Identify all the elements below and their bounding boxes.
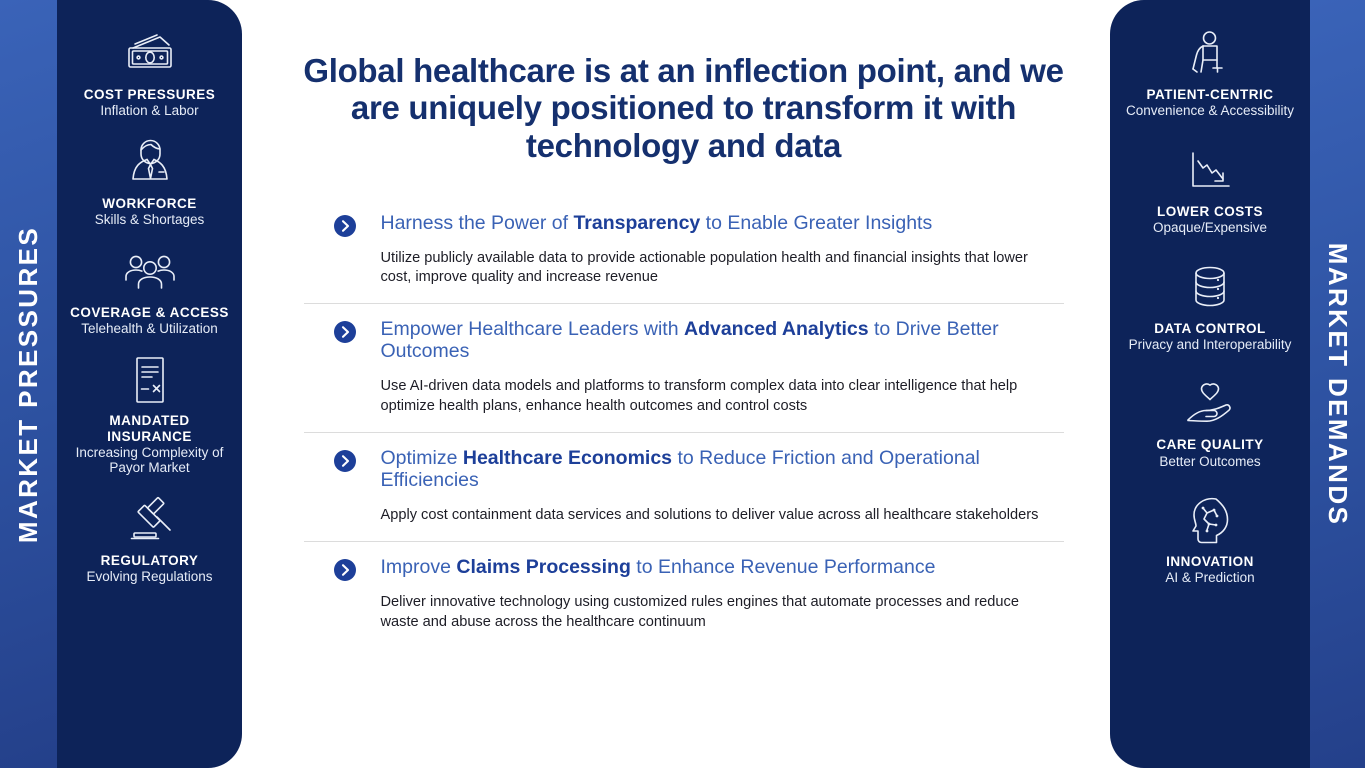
page-title: Global healthcare is at an inflection po…: [298, 52, 1069, 164]
list-item-body: Empower Healthcare Leaders with Advanced…: [381, 318, 1064, 416]
list-item[interactable]: Empower Healthcare Leaders with Advanced…: [304, 304, 1064, 433]
market-pressures-panel: COST PRESSURES Inflation & Labor WORKFOR…: [57, 0, 242, 768]
points-list: Harness the Power of Transparency to Ena…: [304, 198, 1064, 648]
panel-item[interactable]: INNOVATION AI & Prediction: [1110, 495, 1310, 586]
left-band: MARKET PRESSURES: [0, 0, 57, 768]
list-item[interactable]: Optimize Healthcare Economics to Reduce …: [304, 433, 1064, 542]
panel-item-subtitle: Opaque/Expensive: [1153, 220, 1267, 235]
list-item-body: Improve Claims Processing to Enhance Rev…: [381, 556, 1064, 632]
list-item-description: Apply cost containment data services and…: [381, 506, 1061, 525]
panel-item[interactable]: DATA CONTROL Privacy and Interoperabilit…: [1110, 262, 1310, 353]
patient-wheelchair-icon: [1185, 28, 1235, 80]
panel-item[interactable]: PATIENT-CENTRIC Convenience & Accessibil…: [1110, 28, 1310, 119]
list-item-title: Harness the Power of Transparency to Ena…: [381, 212, 1064, 234]
title-pre: Optimize: [381, 447, 463, 469]
panel-item-subtitle: Better Outcomes: [1159, 454, 1260, 469]
declining-chart-icon: [1184, 145, 1236, 197]
panel-item[interactable]: COST PRESSURES Inflation & Labor: [57, 28, 242, 119]
panel-item[interactable]: REGULATORY Evolving Regulations: [57, 494, 242, 585]
list-item-title: Improve Claims Processing to Enhance Rev…: [381, 556, 1064, 578]
heart-in-hand-icon: [1182, 378, 1238, 430]
title-highlight: Transparency: [573, 212, 700, 234]
panel-item-title: MANDATED INSURANCE: [65, 413, 234, 444]
list-item-body: Harness the Power of Transparency to Ena…: [381, 212, 1064, 288]
list-item-description: Use AI-driven data models and platforms …: [381, 377, 1061, 416]
chevron-right-circle-icon: [334, 321, 356, 343]
title-highlight: Healthcare Economics: [463, 447, 672, 469]
panel-item-title: INNOVATION: [1166, 554, 1254, 569]
list-item-title: Optimize Healthcare Economics to Reduce …: [381, 447, 1064, 491]
left-band-label: MARKET PRESSURES: [13, 225, 44, 542]
panel-item-title: DATA CONTROL: [1154, 321, 1265, 336]
slide-root: MARKET PRESSURES COST PRESSURES Inflatio…: [0, 0, 1365, 768]
panel-item-subtitle: AI & Prediction: [1165, 570, 1254, 585]
title-highlight: Advanced Analytics: [684, 318, 869, 340]
title-pre: Improve: [381, 556, 457, 578]
title-pre: Harness the Power of: [381, 212, 574, 234]
panel-item-title: COVERAGE & ACCESS: [70, 305, 229, 320]
database-icon: [1188, 262, 1232, 314]
worker-person-icon: [126, 137, 174, 189]
list-item-title: Empower Healthcare Leaders with Advanced…: [381, 318, 1064, 362]
panel-item-subtitle: Convenience & Accessibility: [1126, 103, 1294, 118]
title-pre: Empower Healthcare Leaders with: [381, 318, 684, 340]
right-band: MARKET DEMANDS: [1310, 0, 1365, 768]
panel-item[interactable]: MANDATED INSURANCE Increasing Complexity…: [57, 354, 242, 476]
panel-item-title: PATIENT-CENTRIC: [1147, 87, 1274, 102]
document-denied-icon: [130, 354, 170, 406]
list-item[interactable]: Improve Claims Processing to Enhance Rev…: [304, 542, 1064, 648]
panel-item-subtitle: Increasing Complexity of Payor Market: [65, 445, 234, 476]
panel-item-title: LOWER COSTS: [1157, 204, 1263, 219]
list-item-description: Deliver innovative technology using cust…: [381, 593, 1061, 632]
list-item-body: Optimize Healthcare Economics to Reduce …: [381, 447, 1064, 525]
cash-money-icon: [124, 28, 176, 80]
panel-item-subtitle: Evolving Regulations: [86, 569, 212, 584]
panel-item-subtitle: Telehealth & Utilization: [81, 321, 218, 336]
brain-ai-head-icon: [1186, 495, 1234, 547]
chevron-right-circle-icon: [334, 450, 356, 472]
panel-item[interactable]: WORKFORCE Skills & Shortages: [57, 137, 242, 228]
title-post: to Enhance Revenue Performance: [631, 556, 936, 578]
panel-item-title: REGULATORY: [101, 553, 199, 568]
panel-item-subtitle: Inflation & Labor: [100, 103, 198, 118]
people-group-icon: [122, 246, 178, 298]
panel-item-subtitle: Skills & Shortages: [95, 212, 205, 227]
title-post: to Enable Greater Insights: [700, 212, 932, 234]
chevron-right-circle-icon: [334, 215, 356, 237]
panel-item-title: COST PRESSURES: [84, 87, 216, 102]
panel-item[interactable]: LOWER COSTS Opaque/Expensive: [1110, 145, 1310, 236]
panel-item-subtitle: Privacy and Interoperability: [1129, 337, 1292, 352]
title-highlight: Claims Processing: [456, 556, 631, 578]
list-item-description: Utilize publicly available data to provi…: [381, 249, 1061, 288]
gavel-icon: [124, 494, 176, 546]
right-band-label: MARKET DEMANDS: [1322, 242, 1353, 525]
panel-item-title: CARE QUALITY: [1156, 437, 1263, 452]
main-content: Global healthcare is at an inflection po…: [250, 0, 1103, 768]
panel-item-title: WORKFORCE: [102, 196, 197, 211]
list-item[interactable]: Harness the Power of Transparency to Ena…: [304, 198, 1064, 305]
chevron-right-circle-icon: [334, 559, 356, 581]
panel-item[interactable]: COVERAGE & ACCESS Telehealth & Utilizati…: [57, 246, 242, 337]
panel-item[interactable]: CARE QUALITY Better Outcomes: [1110, 378, 1310, 469]
market-demands-panel: PATIENT-CENTRIC Convenience & Accessibil…: [1110, 0, 1310, 768]
